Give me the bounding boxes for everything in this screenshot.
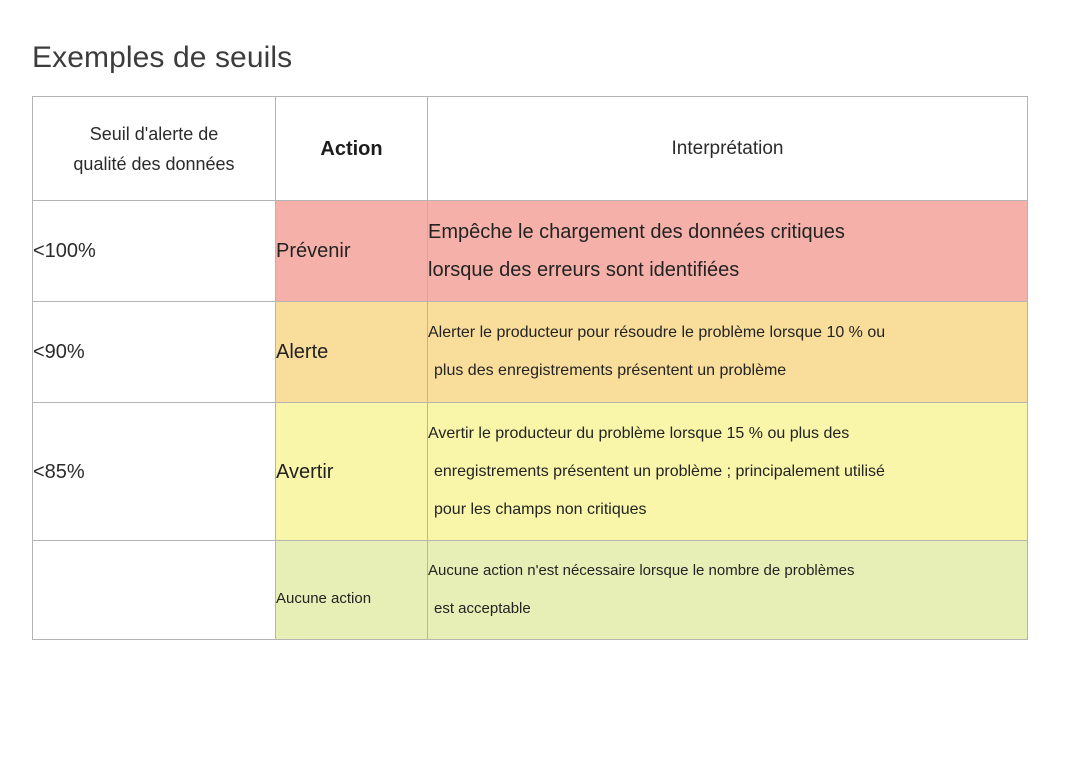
- cell-action-label: Avertir: [276, 403, 428, 541]
- cell-threshold-value: <85%: [33, 403, 276, 541]
- table-row: Aucune action Aucune action n'est nécess…: [33, 541, 1028, 640]
- thresholds-table: Seuil d'alerte de qualité des données Ac…: [32, 96, 1028, 640]
- interpretation-line-3: pour les champs non critiques: [428, 491, 1027, 529]
- column-header-interpretation-text: Interprétation: [428, 134, 1027, 164]
- cell-threshold-value: [33, 541, 276, 640]
- table-body: <100% Prévenir Empêche le chargement des…: [33, 201, 1028, 640]
- cell-interpretation: Empêche le chargement des données critiq…: [428, 201, 1028, 302]
- column-header-threshold: Seuil d'alerte de qualité des données: [33, 97, 276, 201]
- interpretation-line-1: Avertir le producteur du problème lorsqu…: [428, 415, 1027, 453]
- table-row: <100% Prévenir Empêche le chargement des…: [33, 201, 1028, 302]
- column-header-interpretation: Interprétation: [428, 97, 1028, 201]
- table-header: Seuil d'alerte de qualité des données Ac…: [33, 97, 1028, 201]
- column-header-threshold-line-1: Seuil d'alerte de: [90, 124, 219, 144]
- thresholds-table-container: Seuil d'alerte de qualité des données Ac…: [32, 96, 1027, 640]
- column-header-threshold-text: Seuil d'alerte de qualité des données: [33, 119, 275, 179]
- column-header-action-text: Action: [276, 134, 427, 164]
- interpretation-line-1: Alerter le producteur pour résoudre le p…: [428, 314, 1027, 352]
- interpretation-line-2: lorsque des erreurs sont identifiées: [428, 251, 1027, 289]
- table-row: <90% Alerte Alerter le producteur pour r…: [33, 302, 1028, 403]
- column-header-action: Action: [276, 97, 428, 201]
- cell-interpretation: Avertir le producteur du problème lorsqu…: [428, 403, 1028, 541]
- table-row: <85% Avertir Avertir le producteur du pr…: [33, 403, 1028, 541]
- interpretation-line-1: Empêche le chargement des données critiq…: [428, 213, 1027, 251]
- interpretation-line-1: Aucune action n'est nécessaire lorsque l…: [428, 552, 1027, 590]
- cell-interpretation: Alerter le producteur pour résoudre le p…: [428, 302, 1028, 403]
- interpretation-line-2: plus des enregistrements présentent un p…: [428, 352, 1027, 390]
- cell-interpretation: Aucune action n'est nécessaire lorsque l…: [428, 541, 1028, 640]
- column-header-threshold-line-2: qualité des données: [73, 154, 234, 174]
- interpretation-line-2: enregistrements présentent un problème ;…: [428, 453, 1027, 491]
- cell-threshold-value: <100%: [33, 201, 276, 302]
- page-title: Exemples de seuils: [32, 38, 292, 78]
- cell-action-label: Prévenir: [276, 201, 428, 302]
- cell-threshold-value: <90%: [33, 302, 276, 403]
- cell-action-label: Aucune action: [276, 541, 428, 640]
- interpretation-line-2: est acceptable: [428, 590, 1027, 628]
- table-header-row: Seuil d'alerte de qualité des données Ac…: [33, 97, 1028, 201]
- cell-action-label: Alerte: [276, 302, 428, 403]
